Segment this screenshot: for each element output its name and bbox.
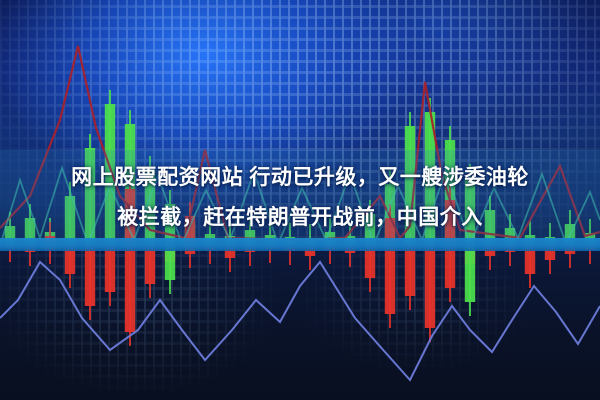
digit-matrix-texture-lower bbox=[0, 250, 600, 400]
headline-line-2: 被拦截，赶在特朗普开战前，中国介入 bbox=[0, 198, 600, 238]
headline-line-1: 网上股票配资网站 行动已升级，又一艘涉委油轮 bbox=[0, 158, 600, 198]
headline-text: 网上股票配资网站 行动已升级，又一艘涉委油轮 被拦截，赶在特朗普开战前，中国介入 bbox=[0, 158, 600, 238]
news-thumbnail-banner: 网上股票配资网站 行动已升级，又一艘涉委油轮 被拦截，赶在特朗普开战前，中国介入 bbox=[0, 0, 600, 400]
